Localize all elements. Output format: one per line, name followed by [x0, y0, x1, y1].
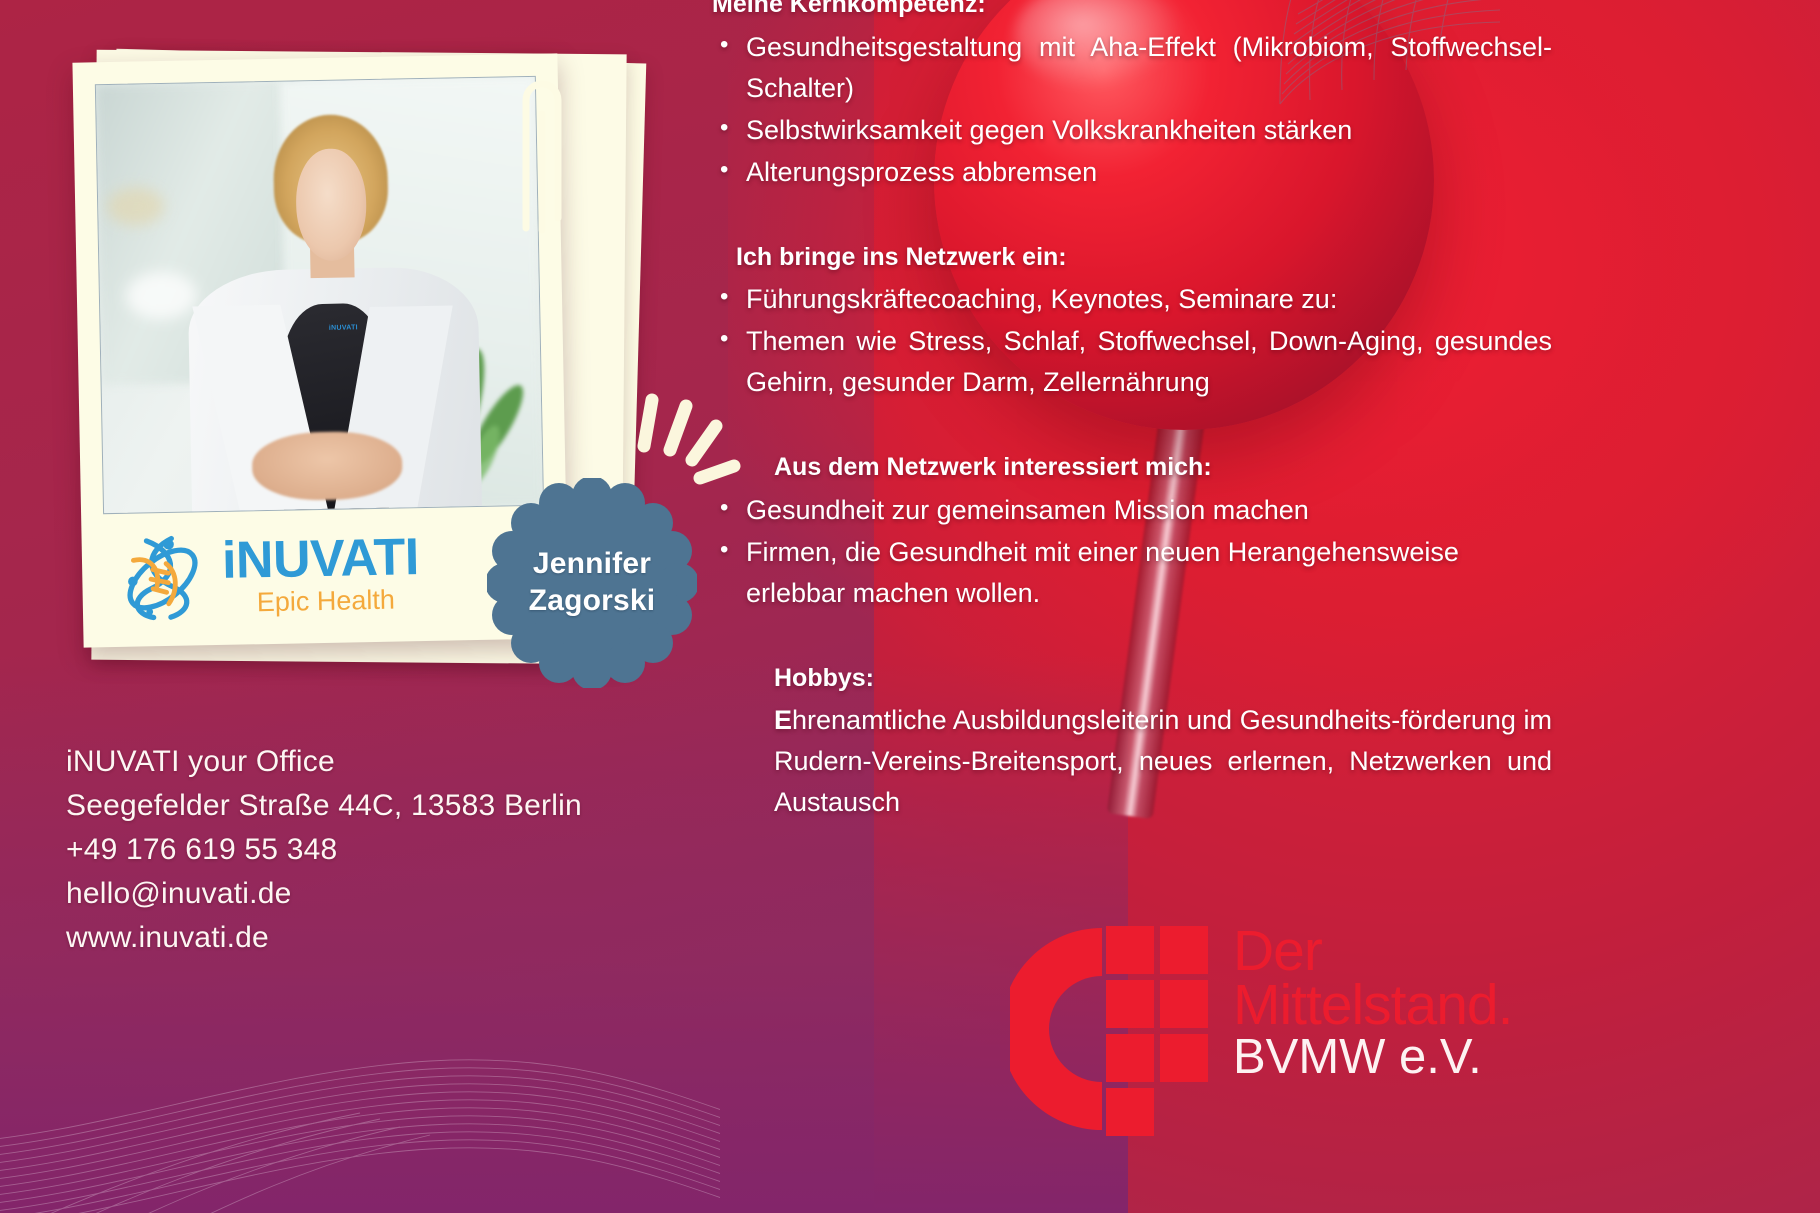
bvmw-line-der: Der — [1233, 924, 1512, 978]
inuvati-dna-atom-icon — [117, 530, 215, 624]
badge-last-name: Zagorski — [529, 584, 656, 617]
bvmw-line-mittelstand: Mittelstand. — [1233, 978, 1512, 1032]
spacer — [712, 197, 1552, 241]
contact-line-office: iNUVATI your Office — [66, 740, 706, 784]
list-item: Gesundheit zur gemeinsamen Mission mache… — [712, 490, 1552, 531]
section-hobbys: Hobbys: Ehrenamtliche Ausbildungsleiteri… — [712, 662, 1552, 824]
inuvati-logo: iNUVATI Epic Health — [103, 506, 546, 624]
bvmw-squares-icon — [1010, 922, 1215, 1137]
bvmw-line-bvmw: BVMW e.V. — [1233, 1034, 1512, 1081]
wave-mesh-decoration — [0, 993, 720, 1213]
portrait-photo: iNUVATI — [95, 76, 544, 514]
section-heading: Hobbys: — [712, 662, 1552, 695]
photo-coat-logo: iNUVATI — [329, 324, 358, 332]
section-netzwerk-interesse: Aus dem Netzwerk interessiert mich: Gesu… — [712, 451, 1552, 614]
list-item: Alterungsprozess abbremsen — [712, 152, 1552, 193]
contact-line-website[interactable]: www.inuvati.de — [66, 916, 706, 960]
list-item: Führungskräftecoaching, Keynotes, Semina… — [712, 279, 1552, 320]
hobbys-paragraph: Ehrenamtliche Ausbildungsleiterin und Ge… — [712, 700, 1552, 823]
list-item: Themen wie Stress, Schlaf, Stoffwechsel,… — [712, 321, 1552, 403]
contact-line-address: Seegefelder Straße 44C, 13583 Berlin — [66, 784, 706, 828]
hobbys-paragraph-body: hrenamtliche Ausbildungsleiterin und Ges… — [774, 705, 1552, 817]
list-item: Gesundheitsgestaltung mit Aha-Effekt (Mi… — [712, 27, 1552, 109]
list-item: Selbstwirksamkeit gegen Volkskrankheiten… — [712, 110, 1552, 151]
section-heading: Aus dem Netzwerk interessiert mich: — [712, 451, 1552, 484]
section-bullet-list: Gesundheitsgestaltung mit Aha-Effekt (Mi… — [712, 27, 1552, 193]
section-kernkompetenz: Meine Kernkompetenz: Gesundheitsgestaltu… — [712, 0, 1552, 193]
section-bullet-list: Gesundheit zur gemeinsamen Mission mache… — [712, 490, 1552, 614]
section-heading: Meine Kernkompetenz: — [712, 0, 1552, 21]
inuvati-logo-tagline: Epic Health — [257, 586, 420, 616]
contact-line-phone[interactable]: +49 176 619 55 348 — [66, 828, 706, 872]
contact-line-email[interactable]: hello@inuvati.de — [66, 872, 706, 916]
section-netzwerk-einbringen: Ich bringe ins Netzwerk ein: Führungskrä… — [712, 241, 1552, 404]
spacer — [712, 407, 1552, 451]
name-badge: Jennifer Zagorski — [487, 478, 697, 688]
section-bullet-list: Führungskräftecoaching, Keynotes, Semina… — [712, 279, 1552, 403]
hobbys-paragraph-lead: E — [774, 705, 792, 735]
contact-block: iNUVATI your Office Seegefelder Straße 4… — [66, 740, 706, 960]
list-item: Firmen, die Gesundheit mit einer neuen H… — [712, 532, 1552, 614]
profile-content: Meine Kernkompetenz: Gesundheitsgestaltu… — [712, 0, 1552, 827]
section-heading: Ich bringe ins Netzwerk ein: — [712, 241, 1552, 274]
inuvati-logo-wordmark: iNUVATI — [222, 531, 420, 587]
spacer — [712, 618, 1552, 662]
bvmw-logo: Der Mittelstand. BVMW e.V. — [1010, 912, 1570, 1213]
paperclip-icon — [504, 48, 574, 248]
badge-first-name: Jennifer — [533, 547, 651, 580]
